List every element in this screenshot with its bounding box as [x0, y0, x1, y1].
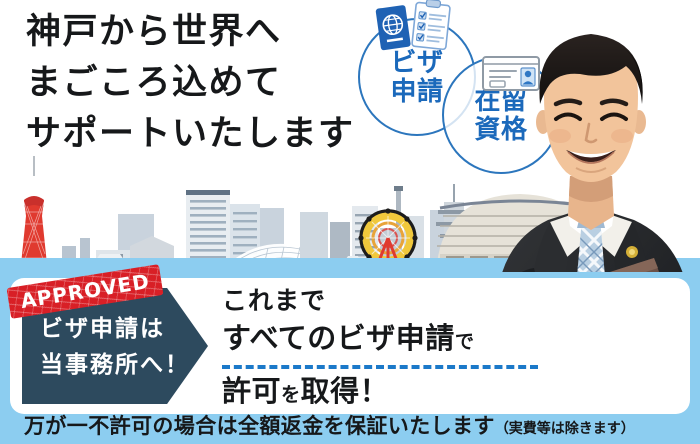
page-title: 神戸から世界へ まごころ込めて サポートいたします — [26, 6, 355, 159]
cta-line-3: 許可を取得！ — [222, 369, 538, 416]
cta-arrow-line-1: ビザ申請は — [40, 310, 165, 346]
cta-line-1: これまで — [222, 284, 538, 319]
cta-arrow-line-2: 当事務所へ！ — [40, 346, 190, 382]
headline-line-2: まごころ込めて — [26, 57, 355, 108]
cta-line-2-main: すべてのビザ申請 — [222, 323, 455, 355]
badge-visa-line-1: ビザ — [390, 48, 443, 77]
guarantee-main: 万が一不許可の場合は全額返金を保証いたします — [24, 415, 495, 438]
kobe-port-tower-icon — [14, 156, 54, 274]
cta-text-block: これまで すべてのビザ申請で 許可を取得！ — [222, 284, 538, 416]
cta-line-3-a: 許可 — [222, 376, 281, 408]
guarantee-note: （実費等は除きます） — [495, 420, 635, 436]
cta-line-2-particle: で — [455, 332, 475, 353]
guarantee-footer: 万が一不許可の場合は全額返金を保証いたします（実費等は除きます） — [24, 414, 635, 441]
cta-line-3-b: 取得！ — [301, 376, 390, 408]
badge-visa-line-2: 申請 — [390, 77, 443, 106]
badge-visa-label: ビザ 申請 — [390, 48, 443, 106]
headline-line-3: サポートいたします — [26, 108, 355, 159]
cta-line-2: すべてのビザ申請で — [222, 319, 538, 369]
passport-clipboard-icon — [372, 0, 458, 52]
headline-line-1: 神戸から世界へ — [26, 6, 355, 57]
visa-service-banner: 神戸から世界へ まごころ込めて サポートいたします — [0, 0, 700, 444]
cta-line-3-particle: を — [281, 385, 301, 406]
